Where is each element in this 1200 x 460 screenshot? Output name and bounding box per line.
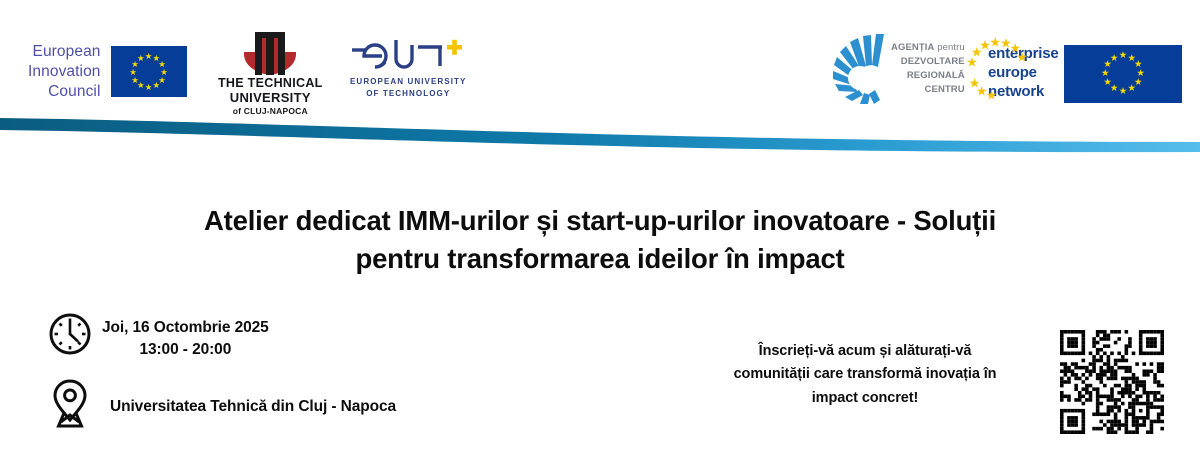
een-mark: enterprise europe network ★★★★★★★★★★ — [958, 36, 1054, 102]
eu-star-icon: ★ — [1119, 52, 1128, 62]
eu-star-icon: ★ — [145, 83, 153, 91]
logo-eut-plus: EUROPEAN UNIVERSITY OF TECHNOLOGY — [350, 36, 466, 99]
eu-star-icon: ★ — [1128, 85, 1137, 95]
eic-eu-flag-icon: ★★★★★★★★★★★★ — [111, 46, 187, 97]
cta-line-3: impact concret! — [812, 390, 918, 406]
eu-flag-icon: ★★★★★★★★★★★★ — [1064, 45, 1182, 103]
eu-star-icon: ★ — [153, 81, 161, 89]
location-pin-icon — [48, 377, 102, 429]
eut-wordmark-icon — [352, 36, 464, 72]
page-title: Atelier dedicat IMM-urilor și start-up-u… — [100, 202, 1100, 278]
title-line-2: pentru transformarea ideilor în impact — [355, 243, 844, 274]
adr-line-1: AGENȚIA pentru — [891, 41, 965, 55]
title-line-1: Atelier dedicat IMM-urilor și start-up-u… — [204, 205, 996, 236]
wave-divider — [0, 108, 1200, 168]
adr-line-4: CENTRU — [891, 83, 965, 97]
detail-row-datetime: Joi, 16 Octombrie 2025 13:00 - 20:00 — [48, 312, 478, 361]
datetime-text: Joi, 16 Octombrie 2025 13:00 - 20:00 — [102, 312, 269, 361]
registration-qr-code[interactable] — [1060, 330, 1164, 434]
logo-band: European Innovation Council ★★★★★★★★★★★★… — [0, 0, 1200, 122]
eu-star-icon: ★ — [1101, 69, 1110, 79]
adr-sunburst-icon — [832, 33, 888, 105]
adr-line-3: REGIONALĂ — [891, 69, 965, 83]
event-time: 13:00 - 20:00 — [102, 339, 269, 361]
eu-star-icon: ★ — [1110, 54, 1119, 64]
cta-line-2: comunității care transformă inovația în — [734, 366, 997, 382]
eu-star-icon: ★ — [145, 52, 153, 60]
logo-adr-centru: AGENȚIA pentru DEZVOLTARE REGIONALĂ CENT… — [832, 33, 965, 105]
event-details: Joi, 16 Octombrie 2025 13:00 - 20:00 Uni… — [48, 312, 478, 429]
logo-technical-university-cluj: THE TECHNICAL UNIVERSITY of CLUJ-NAPOCA — [218, 32, 323, 118]
eu-star-icon: ★ — [131, 75, 139, 83]
adr-line-2: DEZVOLTARE — [891, 55, 965, 69]
logo-european-union-flag: ★★★★★★★★★★★★ — [1064, 45, 1182, 103]
tuc-line-2: UNIVERSITY — [218, 91, 323, 106]
eu-star-icon: ★ — [1103, 78, 1112, 88]
eu-star-icon: ★ — [129, 68, 137, 76]
eic-wordmark-text: European Innovation Council — [28, 42, 101, 101]
cta-text: Înscrieți-vă acum și alăturați-vă comuni… — [690, 340, 1040, 410]
eu-star-icon: ★ — [137, 54, 145, 62]
tuc-line-1: THE TECHNICAL — [218, 77, 323, 91]
een-star-icon: ★ — [1016, 50, 1028, 63]
venue-text: Universitatea Tehnică din Cluj - Napoca — [102, 377, 396, 418]
eut-subtitle: EUROPEAN UNIVERSITY OF TECHNOLOGY — [350, 76, 466, 99]
logo-european-innovation-council: European Innovation Council ★★★★★★★★★★★★ — [28, 42, 187, 101]
event-date: Joi, 16 Octombrie 2025 — [102, 317, 269, 339]
logo-enterprise-europe-network: enterprise europe network ★★★★★★★★★★ — [958, 36, 1054, 102]
tuc-shield-icon — [242, 32, 298, 75]
clock-icon — [48, 312, 102, 356]
een-star-icon: ★ — [986, 89, 998, 102]
cta-line-1: Înscrieți-vă acum și alăturați-vă — [759, 343, 972, 359]
eu-star-icon: ★ — [1119, 87, 1128, 97]
adr-wordmark: AGENȚIA pentru DEZVOLTARE REGIONALĂ CENT… — [891, 41, 965, 96]
detail-row-venue: Universitatea Tehnică din Cluj - Napoca — [48, 377, 478, 429]
